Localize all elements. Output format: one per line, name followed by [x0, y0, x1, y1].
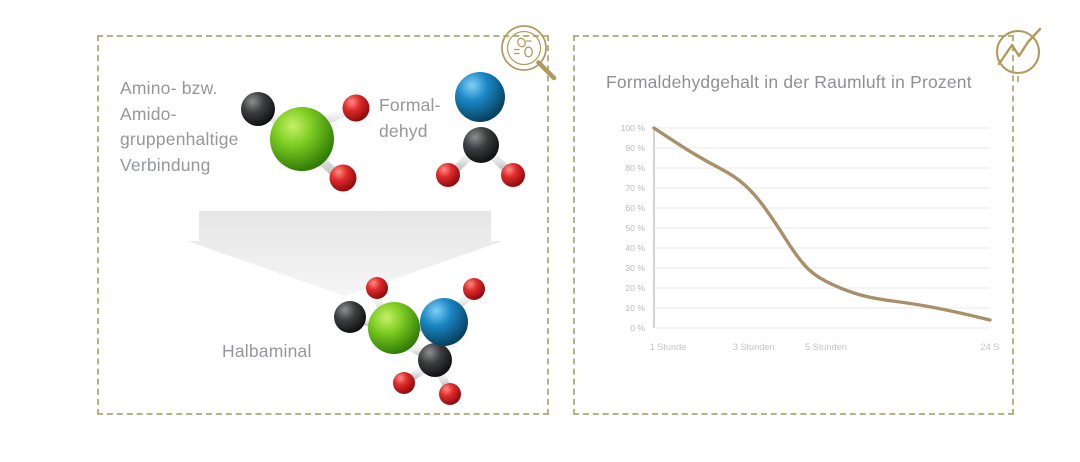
- y-axis-tick-label: 30 %: [625, 263, 645, 273]
- infographic-canvas: Amino- bzw. Amido- gruppenhaltige Verbin…: [0, 0, 1080, 462]
- x-axis-tick-label: 1 Stunde: [650, 342, 687, 352]
- halbaminal-molecule: [322, 272, 502, 407]
- trend-chart-circle-icon: [988, 20, 1052, 84]
- formaldehyde-molecule: [432, 66, 528, 191]
- y-axis-tick-label: 70 %: [625, 183, 645, 193]
- y-axis-tick-label: 100 %: [621, 123, 646, 133]
- amine-compound-molecule: [232, 82, 392, 197]
- chart-svg: 100 %90 %80 %70 %60 %50 %40 %30 %20 %10 …: [600, 118, 1000, 380]
- y-axis-tick-label: 10 %: [625, 303, 645, 313]
- y-axis-tick-label: 20 %: [625, 283, 645, 293]
- y-axis-tick-label: 50 %: [625, 223, 645, 233]
- chart-title: Formaldehydgehalt in der Raumluft in Pro…: [606, 72, 972, 93]
- y-axis-tick-label: 0 %: [630, 323, 645, 333]
- y-axis-tick-label: 60 %: [625, 203, 645, 213]
- x-axis-tick-label: 5 Stunden: [805, 342, 847, 352]
- y-axis-tick-label: 90 %: [625, 143, 645, 153]
- y-axis-tick-label: 80 %: [625, 163, 645, 173]
- x-axis-tick-label: 24 Stunden: [980, 342, 1000, 352]
- line-chart: 100 %90 %80 %70 %60 %50 %40 %30 %20 %10 …: [600, 118, 1000, 380]
- x-axis-tick-label: 3 Stunden: [733, 342, 775, 352]
- series-line: [654, 128, 990, 320]
- y-axis-tick-label: 40 %: [625, 243, 645, 253]
